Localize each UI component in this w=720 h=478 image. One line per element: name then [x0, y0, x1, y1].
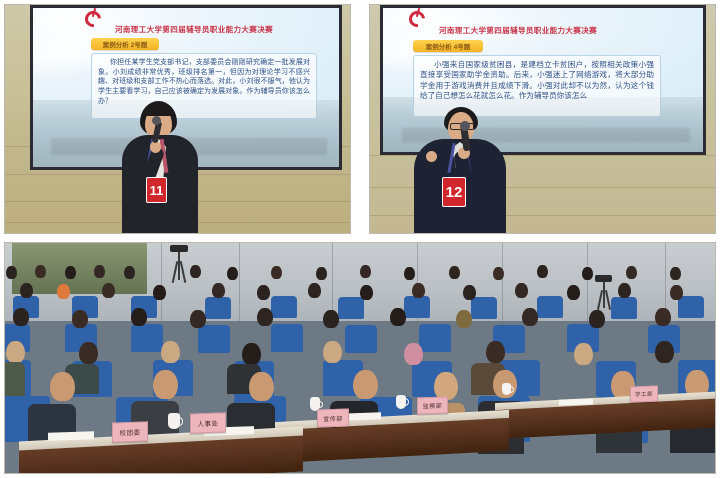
attendee-head	[434, 372, 458, 400]
teacup	[396, 395, 406, 409]
teacup	[168, 413, 180, 429]
attendee-head	[50, 372, 75, 401]
photo-collage: 河南理工大学第四届辅导员职业能力大赛决赛 案例分析 2号题 你担任某学生党支部书…	[0, 0, 720, 478]
nameplate: 监察部	[417, 397, 448, 415]
contestant-speaker: 11	[100, 101, 220, 234]
university-logo-icon	[85, 11, 101, 27]
nameplate: 校团委	[112, 422, 148, 443]
contestant-number: 11	[147, 178, 166, 202]
contestant-11-photo: 河南理工大学第四届辅导员职业能力大赛决赛 案例分析 2号题 你担任某学生党支部书…	[4, 4, 351, 234]
contestant-number-badge: 12	[442, 177, 466, 207]
audience-photo: 学工部 宣传部 监察部 校团委 人事处	[4, 242, 716, 474]
contestant-number: 12	[443, 178, 465, 206]
question-type-badge: 案例分析 4号题	[413, 40, 483, 52]
auditorium: 学工部 宣传部 监察部 校团委 人事处	[5, 243, 715, 473]
nameplate: 宣传部	[317, 408, 349, 427]
contestant-speaker: 12	[400, 107, 540, 234]
nameplate: 人事处	[190, 413, 226, 434]
university-logo-icon	[409, 11, 425, 27]
attendee-head	[249, 372, 274, 401]
nameplate: 学工部	[630, 385, 658, 402]
slide-title: 河南理工大学第四届辅导员职业能力大赛决赛	[439, 25, 597, 36]
slide-title: 河南理工大学第四届辅导员职业能力大赛决赛	[115, 24, 273, 35]
teacup	[502, 383, 511, 395]
question-type-badge: 案例分析 2号题	[91, 38, 159, 50]
attendee-head	[353, 370, 378, 399]
attendee-head	[153, 370, 178, 399]
contestant-number-badge: 11	[146, 177, 167, 203]
contestant-12-photo: 河南理工大学第四届辅导员职业能力大赛决赛 案例分析 4号题 小强来自国家级贫困县…	[369, 4, 716, 234]
